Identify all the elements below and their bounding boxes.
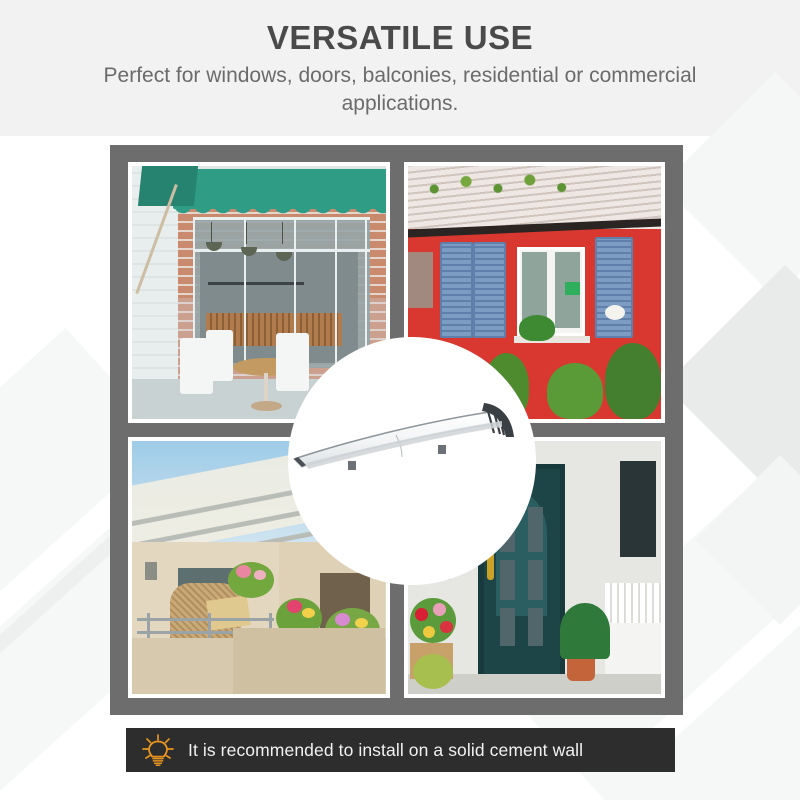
- install-notice-banner: It is recommended to install on a solid …: [126, 728, 675, 772]
- page-subtitle: Perfect for windows, doors, balconies, r…: [80, 62, 720, 117]
- page-title: VERSATILE USE: [0, 0, 800, 56]
- product-awning-canopy: [288, 337, 536, 585]
- install-notice-text: It is recommended to install on a solid …: [188, 740, 583, 761]
- header: VERSATILE USE Perfect for windows, doors…: [0, 0, 800, 136]
- lightbulb-icon: [138, 732, 178, 768]
